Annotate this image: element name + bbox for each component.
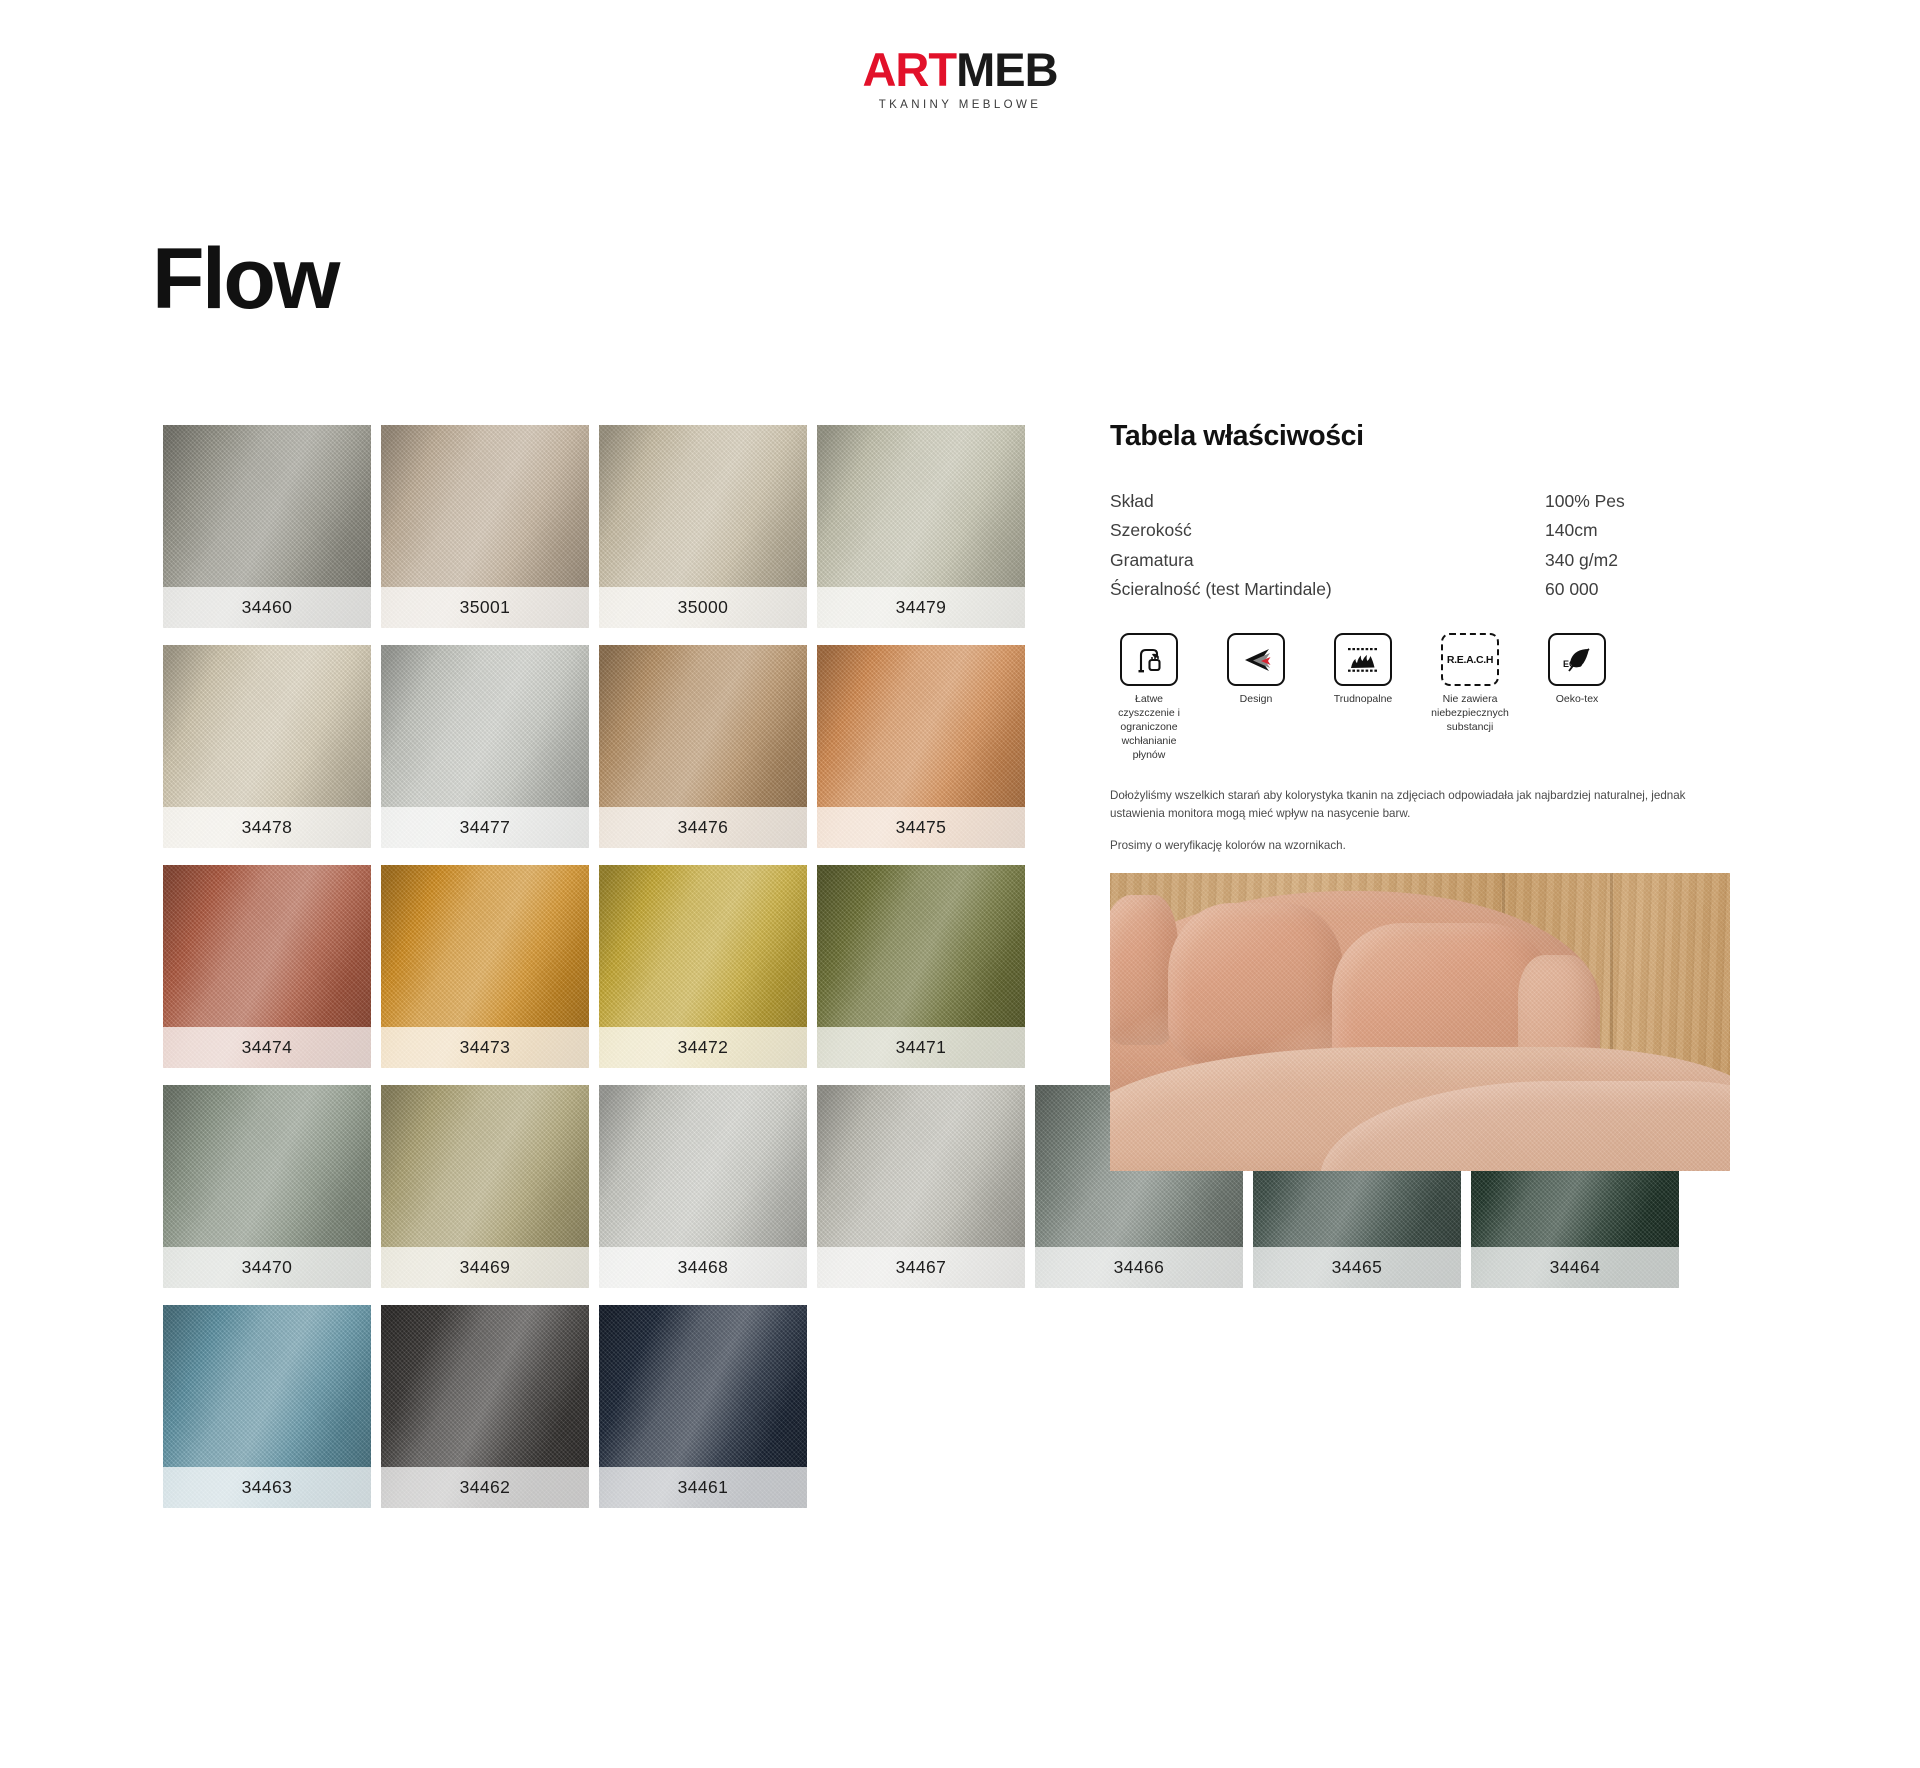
swatch-row: 344633446234461 (163, 1305, 1763, 1508)
sofa-photo (1110, 873, 1730, 1171)
swatch-code-label: 35001 (381, 587, 589, 628)
swatch-code-label: 34475 (817, 807, 1025, 848)
fabric-swatch[interactable]: 34461 (599, 1305, 807, 1508)
disclaimer-paragraph-1: Dołożyliśmy wszelkich starań aby kolorys… (1110, 787, 1735, 823)
badge-caption: Oeko-tex (1538, 693, 1616, 707)
property-label: Ścieralność (test Martindale) (1110, 575, 1545, 605)
property-label: Gramatura (1110, 545, 1545, 575)
fabric-swatch[interactable]: 34472 (599, 865, 807, 1068)
eco-leaf-icon: ECO (1548, 633, 1606, 686)
fabric-swatch[interactable]: 34469 (381, 1085, 589, 1288)
property-value: 140cm (1545, 516, 1750, 546)
fabric-swatch[interactable]: 34471 (817, 865, 1025, 1068)
fabric-swatch[interactable]: 35001 (381, 425, 589, 628)
property-row: Skład100% Pes (1110, 486, 1750, 516)
badge-design: Design (1217, 633, 1295, 762)
properties-table: Skład100% PesSzerokość140cmGramatura340 … (1110, 486, 1750, 604)
badge-flame-retardant: Trudnopalne (1324, 633, 1402, 762)
swatch-code-label: 34467 (817, 1247, 1025, 1288)
fabric-swatch[interactable]: 34460 (163, 425, 371, 628)
properties-panel: Tabela właściwości Skład100% PesSzerokoś… (1110, 420, 1750, 1171)
swatch-code-label: 34470 (163, 1247, 371, 1288)
property-row: Ścieralność (test Martindale)60 000 (1110, 575, 1750, 605)
badge-reach: R.E.A.C.H Nie zawiera niebezpiecznych su… (1431, 633, 1509, 762)
fabric-swatch[interactable]: 34467 (817, 1085, 1025, 1288)
swatch-code-label: 34471 (817, 1027, 1025, 1068)
badge-oeko-tex: ECO Oeko-tex (1538, 633, 1616, 762)
fabric-swatch[interactable]: 34479 (817, 425, 1025, 628)
swatch-code-label: 34472 (599, 1027, 807, 1068)
logo-art-text: ART (862, 43, 956, 96)
swatch-code-label: 34478 (163, 807, 371, 848)
property-value: 60 000 (1545, 575, 1750, 605)
logo-wordmark: ARTMEB (0, 46, 1920, 93)
logo-meb-text: MEB (956, 43, 1057, 96)
page-title: Flow (152, 236, 338, 322)
fabric-swatch[interactable]: 34477 (381, 645, 589, 848)
fabric-swatch[interactable]: 34478 (163, 645, 371, 848)
badge-caption: Trudnopalne (1324, 693, 1402, 707)
property-value: 340 g/m2 (1545, 545, 1750, 575)
fabric-texture-overlay (1110, 873, 1730, 1171)
svg-text:ECO: ECO (1563, 659, 1583, 669)
flame-icon (1334, 633, 1392, 686)
swatch-code-label: 34477 (381, 807, 589, 848)
property-row: Gramatura340 g/m2 (1110, 545, 1750, 575)
badge-caption: Łatwe czyszczenie i ograniczone wchłania… (1110, 693, 1188, 762)
fabric-swatch[interactable]: 34475 (817, 645, 1025, 848)
swatch-code-label: 34466 (1035, 1247, 1243, 1288)
design-arrow-icon (1227, 633, 1285, 686)
vacuum-cleaner-icon (1120, 633, 1178, 686)
swatch-code-label: 34479 (817, 587, 1025, 628)
swatch-code-label: 34465 (1253, 1247, 1461, 1288)
fabric-swatch[interactable]: 34474 (163, 865, 371, 1068)
badge-easy-clean: Łatwe czyszczenie i ograniczone wchłania… (1110, 633, 1188, 762)
fabric-swatch[interactable]: 35000 (599, 425, 807, 628)
swatch-code-label: 34474 (163, 1027, 371, 1068)
swatch-code-label: 34463 (163, 1467, 371, 1508)
swatch-code-label: 34476 (599, 807, 807, 848)
reach-icon: R.E.A.C.H (1441, 633, 1499, 686)
fabric-swatch[interactable]: 34473 (381, 865, 589, 1068)
swatch-code-label: 35000 (599, 587, 807, 628)
swatch-code-label: 34469 (381, 1247, 589, 1288)
property-row: Szerokość140cm (1110, 516, 1750, 546)
fabric-swatch[interactable]: 34476 (599, 645, 807, 848)
swatch-code-label: 34464 (1471, 1247, 1679, 1288)
property-label: Szerokość (1110, 516, 1545, 546)
badge-caption: Design (1217, 693, 1295, 707)
swatch-code-label: 34462 (381, 1467, 589, 1508)
swatch-code-label: 34460 (163, 587, 371, 628)
disclaimer-paragraph-2: Prosimy o weryfikację kolorów na wzornik… (1110, 837, 1735, 855)
property-label: Skład (1110, 486, 1545, 516)
swatch-code-label: 34468 (599, 1247, 807, 1288)
reach-icon-text: R.E.A.C.H (1447, 654, 1493, 666)
logo-tagline: TKANINY MEBLOWE (0, 99, 1920, 111)
property-value: 100% Pes (1545, 486, 1750, 516)
color-disclaimer: Dołożyliśmy wszelkich starań aby kolorys… (1110, 787, 1735, 855)
badge-caption: Nie zawiera niebezpiecznych substancji (1431, 693, 1509, 735)
fabric-swatch[interactable]: 34462 (381, 1305, 589, 1508)
fabric-swatch[interactable]: 34463 (163, 1305, 371, 1508)
swatch-code-label: 34473 (381, 1027, 589, 1068)
brand-logo: ARTMEB TKANINY MEBLOWE (0, 46, 1920, 111)
fabric-swatch[interactable]: 34470 (163, 1085, 371, 1288)
fabric-swatch[interactable]: 34468 (599, 1085, 807, 1288)
properties-heading: Tabela właściwości (1110, 420, 1750, 453)
certification-badges: Łatwe czyszczenie i ograniczone wchłania… (1110, 633, 1750, 762)
swatch-code-label: 34461 (599, 1467, 807, 1508)
